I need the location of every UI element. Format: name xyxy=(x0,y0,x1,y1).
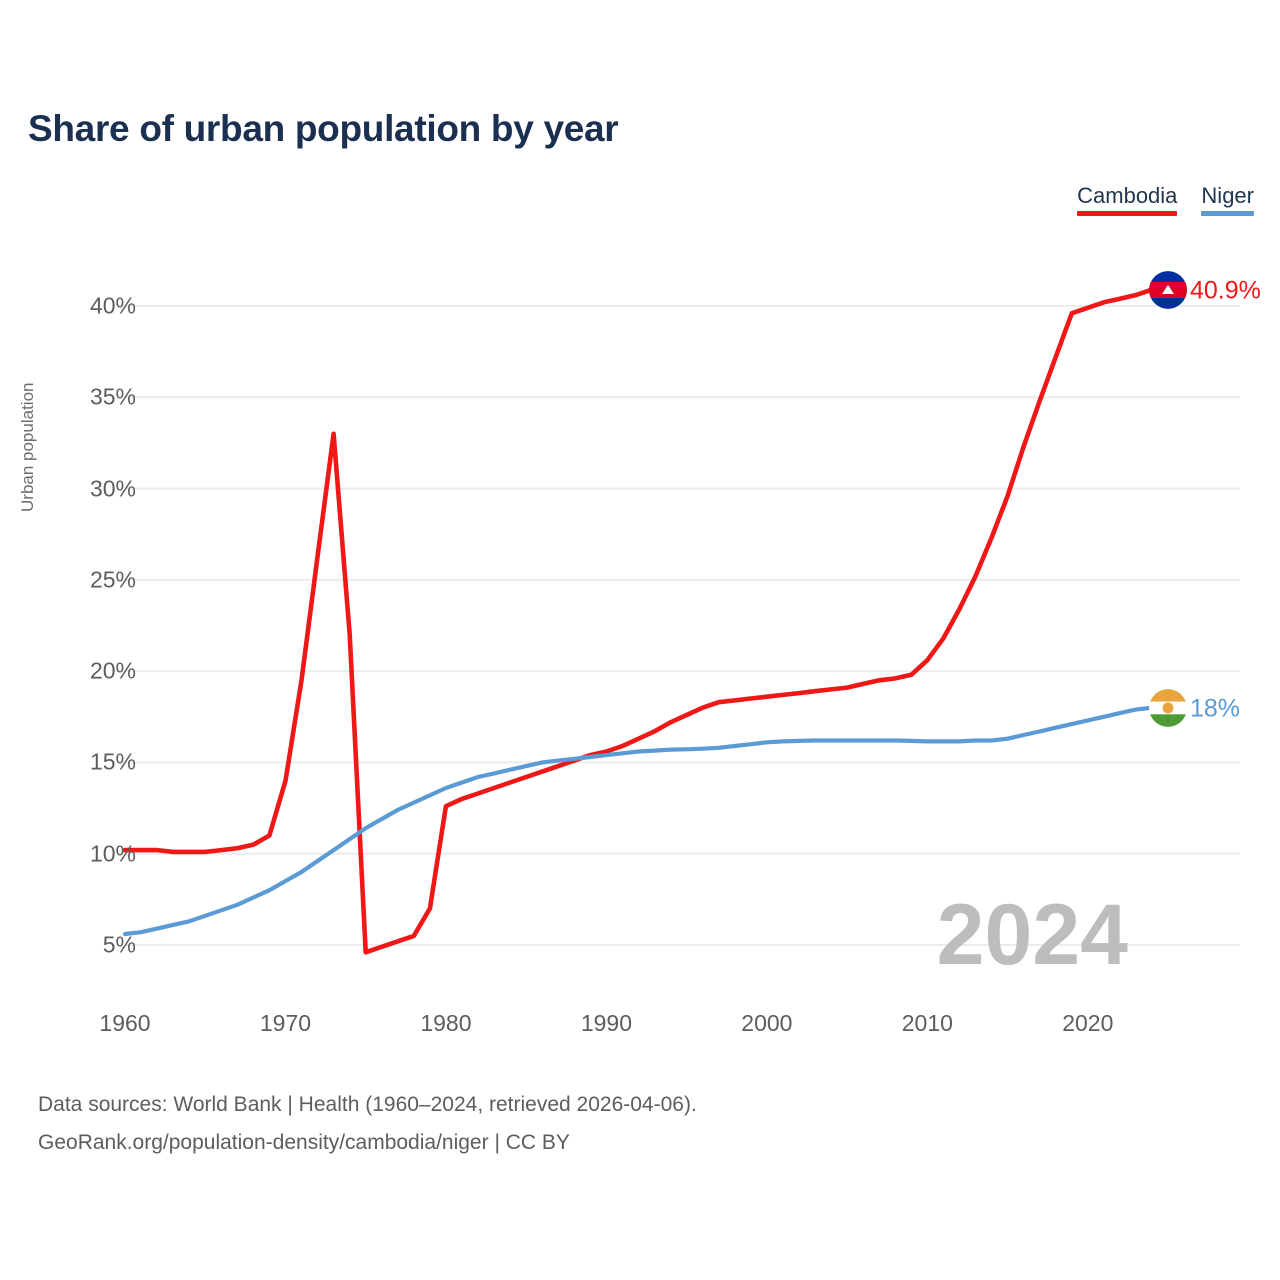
gridlines xyxy=(125,306,1240,945)
footer-line-sources: Data sources: World Bank | Health (1960–… xyxy=(38,1086,697,1124)
x-tick-label: 2020 xyxy=(1062,1010,1113,1037)
y-tick-label: 35% xyxy=(36,384,136,411)
x-tick-label: 1980 xyxy=(420,1010,471,1037)
chart-page: Share of urban population by year Cambod… xyxy=(0,0,1280,1280)
y-tick-label: 10% xyxy=(36,840,136,867)
x-tick-label: 1970 xyxy=(260,1010,311,1037)
y-tick-label: 30% xyxy=(36,475,136,502)
footer-line-url: GeoRank.org/population-density/cambodia/… xyxy=(38,1124,697,1162)
x-tick-label: 1960 xyxy=(99,1010,150,1037)
x-tick-label: 1990 xyxy=(581,1010,632,1037)
niger-end-label: 18% xyxy=(1190,694,1240,723)
y-tick-label: 20% xyxy=(36,658,136,685)
footer: Data sources: World Bank | Health (1960–… xyxy=(38,1086,697,1162)
x-tick-label: 2010 xyxy=(902,1010,953,1037)
niger-flag-icon xyxy=(1149,689,1187,727)
year-watermark: 2024 xyxy=(937,892,1128,978)
y-tick-label: 15% xyxy=(36,749,136,776)
y-tick-label: 5% xyxy=(36,932,136,959)
x-tick-label: 2000 xyxy=(741,1010,792,1037)
cambodia-end-label: 40.9% xyxy=(1190,276,1261,305)
y-tick-label: 40% xyxy=(36,293,136,320)
cambodia-flag-icon xyxy=(1149,271,1187,309)
y-tick-label: 25% xyxy=(36,566,136,593)
